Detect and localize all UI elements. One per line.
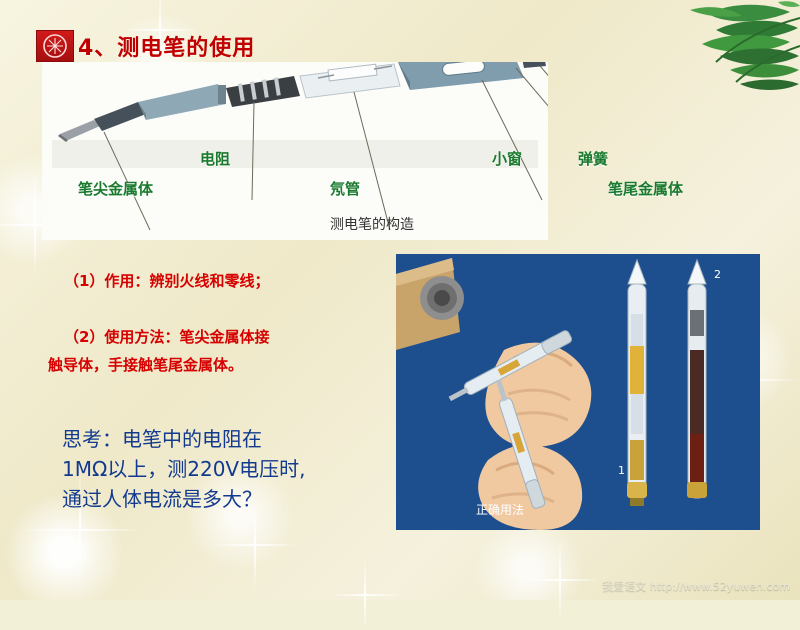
photo-caption: 正确用法: [476, 501, 524, 518]
usage-point-2-line1: （2）使用方法：笔尖金属体接: [64, 326, 269, 347]
svg-text:2: 2: [714, 268, 721, 281]
watermark-footer: 我爱语文 http://www.52yuwen.com: [602, 578, 790, 594]
diagram-label: 弹簧: [578, 148, 608, 169]
usage-point-1: （1）作用：辨别火线和零线；: [64, 270, 269, 291]
question-line-3: 通过人体电流是多大？: [62, 484, 362, 514]
diagram-label: 氖管: [330, 178, 360, 199]
usage-photo: 2 1 正确用法: [396, 254, 760, 530]
diagram-label: 笔尖金属体: [78, 178, 153, 199]
slide-title-row: 4、测电笔的使用: [36, 30, 255, 62]
red-seal-badge-icon: [36, 30, 74, 62]
usage-point-2-line2: 触导体，手接触笔尾金属体。: [48, 354, 243, 375]
question-line-1: 思考：电笔中的电阻在: [62, 424, 362, 454]
plant-decoration-icon: [590, 0, 800, 110]
test-pencil-structure-diagram: [42, 62, 548, 240]
thinking-question: 思考：电笔中的电阻在 1MΩ以上，测220V电压时, 通过人体电流是多大？: [62, 424, 362, 514]
diagram-label: 电阻: [200, 148, 230, 169]
question-line-2: 1MΩ以上，测220V电压时,: [62, 454, 362, 484]
diagram-label: 小窗: [492, 148, 522, 169]
page-title: 4、测电笔的使用: [78, 30, 255, 62]
diagram-caption: 测电笔的构造: [330, 214, 414, 234]
diagram-label: 笔尾金属体: [608, 178, 683, 199]
photo-callout-1: 1: [618, 464, 625, 477]
